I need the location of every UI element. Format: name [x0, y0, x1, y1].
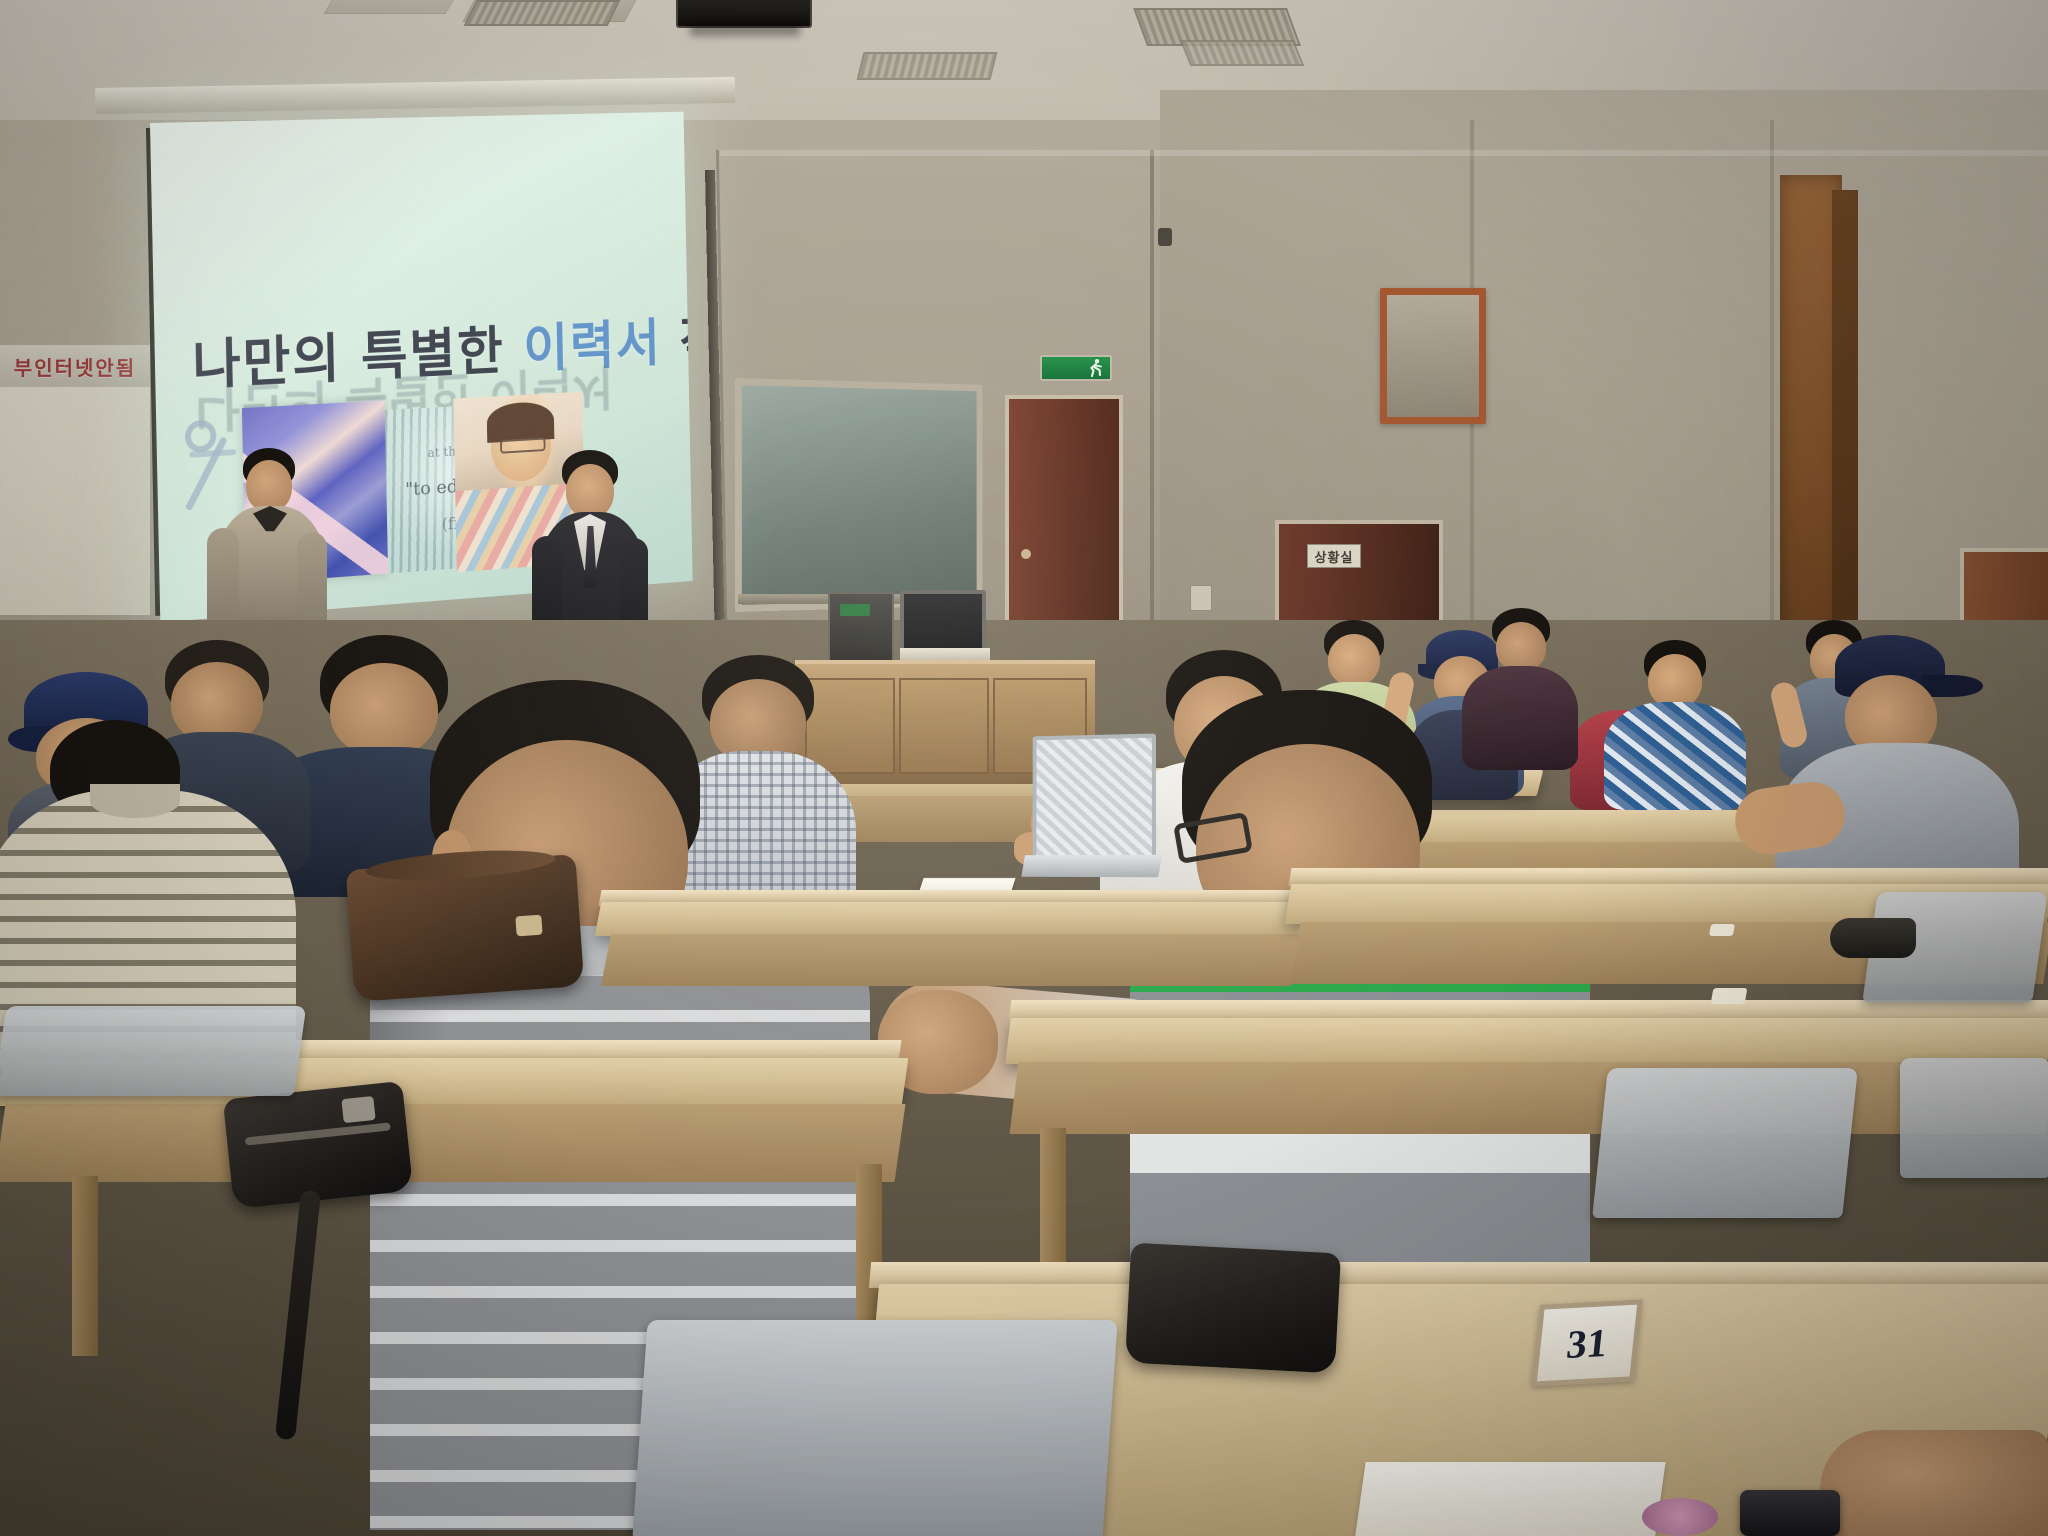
bag-zipper: [245, 1122, 391, 1145]
wall-speaker-icon: [1158, 228, 1172, 246]
desk-leg: [72, 1176, 98, 1356]
bag-buckle: [515, 915, 542, 937]
ceiling-projector-shadow: [690, 22, 800, 36]
collar: [90, 784, 180, 818]
black-camera-bag: [223, 1081, 414, 1209]
chair-foreground[interactable]: [632, 1320, 1117, 1536]
running-person-icon: [1086, 358, 1104, 378]
chair-left[interactable]: [0, 1006, 306, 1096]
exit-sign: EXIT: [1040, 355, 1112, 381]
ceiling-panel: [324, 0, 459, 14]
shoe-on-floor: [1830, 918, 1916, 958]
desk-front-panel: [601, 934, 1301, 986]
chalkboard: [735, 378, 983, 612]
pc-tower: [828, 592, 894, 664]
cap-brim: [1921, 675, 1983, 697]
eraser-on-desk: [1711, 988, 1748, 1004]
desk-leg: [1040, 1128, 1066, 1278]
chair-mid-right[interactable]: [1900, 1058, 2048, 1178]
desk-row-2b: [1005, 1018, 2048, 1064]
dark-backpack-floor: [1125, 1243, 1341, 1374]
ceiling-air-vent: [464, 0, 621, 26]
bag-buckle: [341, 1096, 375, 1123]
slide-photo-hair: [487, 401, 555, 443]
lecture-hall-photo: EXIT 상황실 부인터넷안됨 나만의 특별한 이력서 작성법 나만의 특별한 …: [0, 0, 2048, 1536]
papers-foreground: [1354, 1462, 1665, 1536]
head: [246, 460, 292, 512]
desk-front-panel: [0, 1104, 905, 1182]
left-wall-sign: 부인터넷안됨: [0, 345, 150, 387]
wall-upper-band: [720, 150, 2048, 156]
head: [566, 464, 614, 518]
door-sign-label: 상황실: [1307, 544, 1361, 568]
ceiling-air-vent: [857, 52, 998, 80]
hand-foreground: [1820, 1430, 2048, 1536]
head: [1648, 654, 1702, 708]
wall-outlet: [1190, 585, 1212, 611]
desk-row-3: [595, 902, 1306, 936]
brown-leather-bag: [346, 854, 585, 1002]
ceiling-air-vent: [1180, 40, 1305, 66]
desk-number-placard: 31: [1531, 1299, 1642, 1386]
chair-right[interactable]: [1592, 1068, 1858, 1218]
pc-badge: [840, 604, 870, 616]
desk-front-panel: [1010, 1062, 2048, 1134]
head: [1496, 622, 1546, 672]
door-knob: [1021, 549, 1031, 559]
framed-wall-picture: [1380, 288, 1486, 424]
eraser-on-desk: [1709, 924, 1735, 936]
mobile-phone[interactable]: [1740, 1490, 1840, 1536]
phone-strap: [1642, 1498, 1718, 1536]
